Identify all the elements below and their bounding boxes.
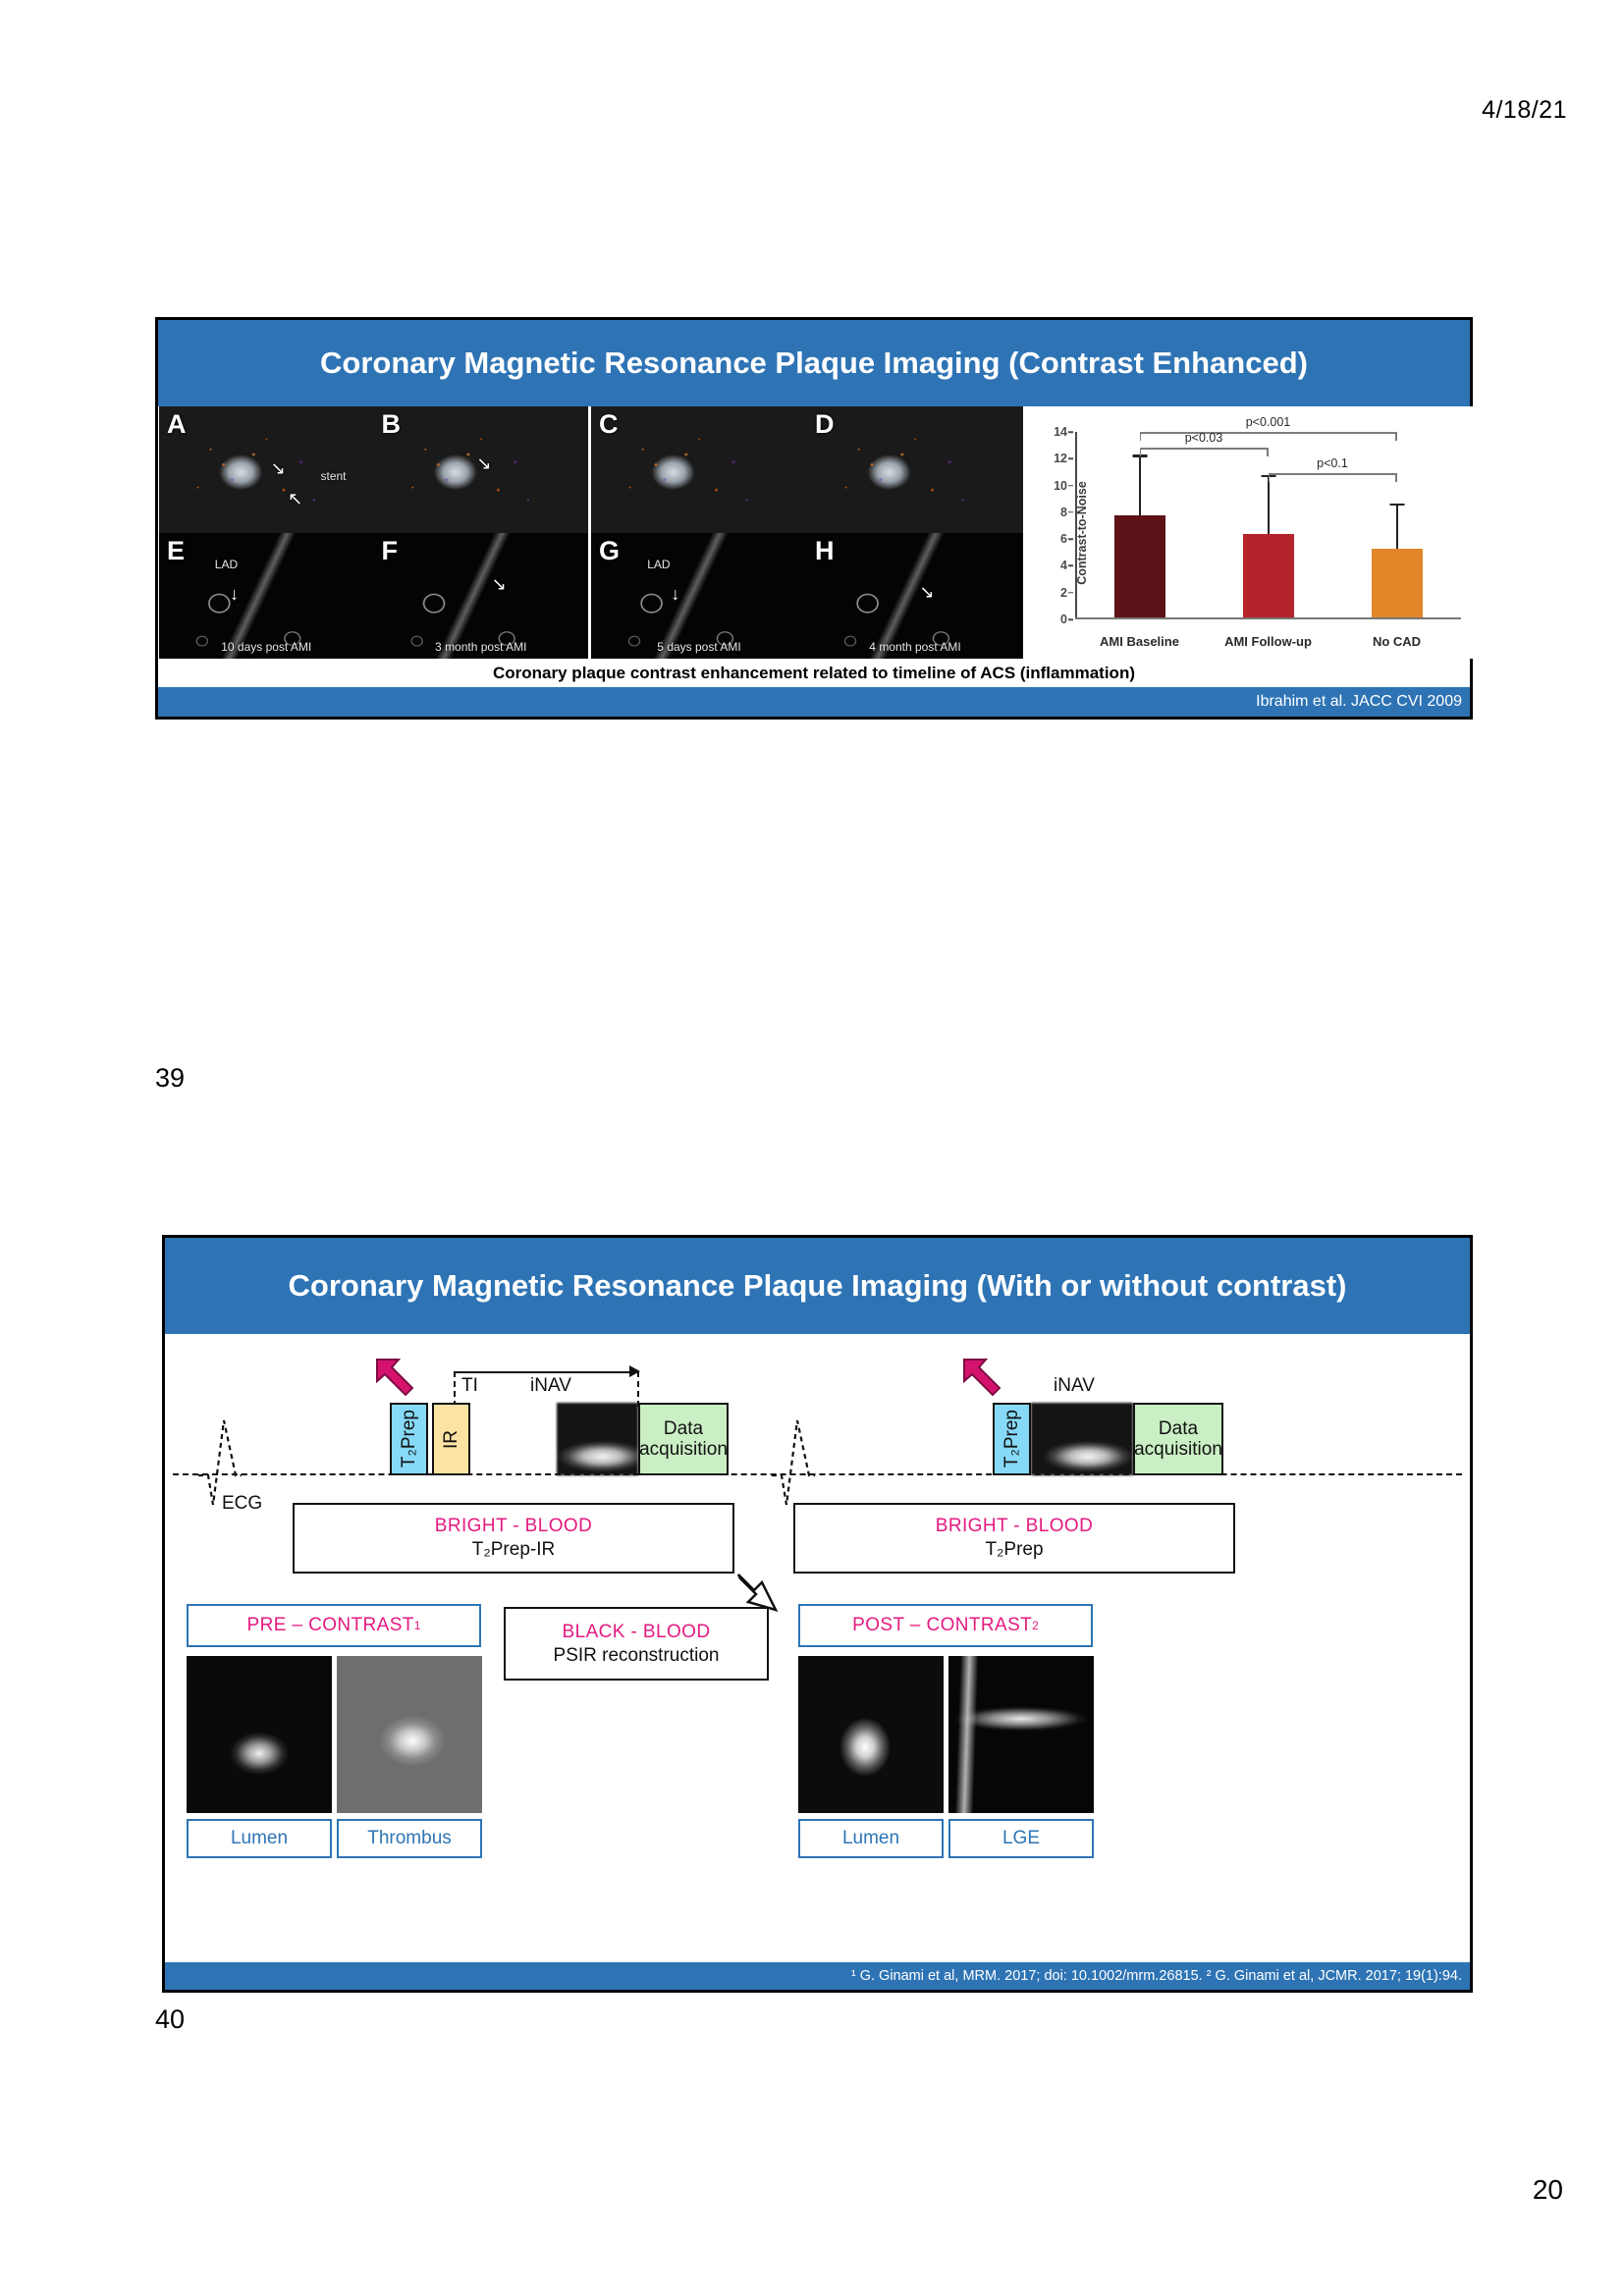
t2prep-label-right: T₂Prep — [1001, 1410, 1022, 1468]
slide-39-footer: Ibrahim et al. JACC CVI 2009 — [158, 687, 1470, 717]
ti-label: TI — [461, 1375, 478, 1397]
bracket-tick — [1140, 448, 1142, 456]
page-number: 20 — [1533, 2174, 1563, 2206]
bracket-arrowhead-icon — [629, 1365, 640, 1377]
mri-panel-d: D — [807, 406, 1023, 533]
mri-panel-c: C — [591, 406, 807, 533]
bright-blood-t2prep-box: BRIGHT - BLOOD T₂Prep — [793, 1503, 1235, 1574]
inav-label-left: iNAV — [530, 1375, 571, 1397]
chart-bar-slot — [1075, 432, 1204, 619]
chart-y-tick-label: 6 — [1060, 532, 1067, 546]
slide-40-footer: ¹ G. Ginami et al, MRM. 2017; doi: 10.10… — [165, 1962, 1470, 1990]
thumbnail-label-lumen-pre: Lumen — [187, 1819, 332, 1858]
pointer-arrow-icon: ↓ — [230, 585, 239, 603]
chart-y-tick-mark — [1068, 565, 1073, 567]
chart-p-value-label: p<0.03 — [1185, 431, 1223, 445]
mri-thumbnail-lumen-post — [798, 1656, 944, 1813]
chart-error-bar — [1268, 477, 1270, 534]
pointer-arrow-icon: ↘ — [476, 454, 491, 472]
mri-texture-lumen-post — [798, 1656, 944, 1813]
chart-significance-bracket: p<0.1 — [1269, 473, 1397, 483]
panel-letter-d: D — [815, 409, 835, 440]
chart-bar — [1243, 534, 1294, 619]
chart-bars — [1075, 432, 1461, 619]
chart-y-tick-label: 4 — [1060, 559, 1067, 572]
chart-p-value-label: p<0.1 — [1317, 456, 1348, 470]
panel-timing-e: 10 days post AMI — [221, 640, 311, 654]
panel-letter-b: B — [382, 409, 402, 440]
black-blood-psir-box: BLACK - BLOOD PSIR reconstruction — [504, 1607, 769, 1681]
mri-panel-b: B ↘ — [374, 406, 589, 533]
slide-40-title: Coronary Magnetic Resonance Plaque Imagi… — [165, 1238, 1470, 1334]
pointer-arrow-icon: ↓ — [671, 585, 679, 603]
pointer-arrow-icon: ↖ — [288, 490, 302, 507]
chart-y-tick-mark — [1068, 592, 1073, 594]
bracket-line — [1140, 448, 1269, 450]
mri-texture-c — [591, 406, 807, 533]
slide-40-body: ECG TI iNAV T₂Prep IR — [165, 1334, 1470, 1962]
bracket-tick — [1140, 432, 1142, 441]
mri-texture-lge — [948, 1656, 1094, 1813]
pointer-arrow-icon: ↘ — [919, 583, 934, 601]
highlight-arrow-icon-right — [960, 1356, 1007, 1405]
pre-contrast-sup: 1 — [414, 1619, 421, 1632]
panel-letter-h: H — [815, 536, 835, 566]
mri-thumbnail-thrombus — [337, 1656, 482, 1813]
mri-texture-lumen-pre — [187, 1656, 332, 1813]
slide-40: Coronary Magnetic Resonance Plaque Imagi… — [162, 1235, 1473, 1993]
chart-y-tick-mark — [1068, 538, 1073, 540]
chart-x-labels: AMI BaselineAMI Follow-upNo CAD — [1075, 634, 1461, 649]
chart-x-tick-label: AMI Follow-up — [1204, 634, 1332, 649]
chart-x-axis — [1075, 617, 1461, 619]
highlight-arrow-icon-left — [373, 1356, 420, 1405]
chart-plot-area: 02468101214 p<0.001p<0.03p<0.1 — [1075, 432, 1461, 619]
chart-error-cap — [1389, 504, 1404, 507]
page-date: 4/18/21 — [1482, 96, 1567, 125]
chart-x-tick-label: No CAD — [1332, 634, 1461, 649]
chart-p-value-label: p<0.001 — [1246, 415, 1291, 429]
pointer-arrow-icon: ↘ — [492, 575, 507, 593]
data-acq-line1-right: Data — [1159, 1418, 1198, 1439]
panel-timing-f: 3 month post AMI — [435, 640, 526, 654]
pre-contrast-text: PRE – CONTRAST — [247, 1615, 414, 1636]
data-acq-line1-left: Data — [664, 1418, 703, 1439]
post-contrast-sup: 2 — [1032, 1619, 1039, 1632]
chart-significance-bracket: p<0.001 — [1140, 432, 1397, 442]
chart-x-tick-label: AMI Baseline — [1075, 634, 1204, 649]
slide-39-caption: Coronary plaque contrast enhancement rel… — [158, 659, 1470, 687]
slide-39: Coronary Magnetic Resonance Plaque Imagi… — [155, 317, 1473, 720]
inav-image-right — [1031, 1403, 1133, 1475]
chart-y-tick-label: 2 — [1060, 586, 1067, 600]
chart-y-tick-label: 10 — [1054, 479, 1067, 493]
inav-image-left — [557, 1403, 638, 1475]
mri-thumbnail-lumen-pre — [187, 1656, 332, 1813]
bracket-tick — [1395, 473, 1397, 482]
mri-panel-g: G LAD ↓ 5 days post AMI — [591, 533, 807, 660]
bracket-line — [1140, 432, 1397, 434]
chart-y-tick-label: 0 — [1060, 613, 1067, 626]
bracket-line — [1269, 473, 1397, 475]
data-acquisition-block-right: Data acquisition — [1133, 1403, 1223, 1475]
panel-note-lad: LAD — [215, 558, 238, 571]
mri-half-left: A ↘ ↖ stent B ↘ E LAD ↓ 10 days post AMI — [159, 406, 591, 659]
panel-letter-f: F — [382, 536, 399, 566]
t2prep-label-left: T₂Prep — [399, 1410, 419, 1468]
black-blood-title: BLACK - BLOOD — [563, 1622, 711, 1643]
chart-y-tick-mark — [1068, 618, 1073, 620]
mri-panel-e: E LAD ↓ 10 days post AMI — [159, 533, 374, 660]
slide-39-title: Coronary Magnetic Resonance Plaque Imagi… — [158, 320, 1470, 406]
data-acq-line2-right: acquisition — [1134, 1439, 1222, 1460]
thumbnail-label-lge: LGE — [948, 1819, 1094, 1858]
t2prep-block-right: T₂Prep — [993, 1403, 1031, 1475]
chart-bar — [1372, 549, 1423, 619]
bright-blood-sub-right: T₂Prep — [985, 1539, 1043, 1561]
chart-significance-bracket: p<0.03 — [1140, 448, 1269, 457]
slide-40-number: 40 — [155, 2004, 185, 2035]
chart-y-tick-mark — [1068, 431, 1073, 433]
panel-note-stent: stent — [320, 469, 346, 483]
chart-bar — [1114, 515, 1165, 619]
panel-letter-c: C — [599, 409, 619, 440]
ir-block-left: IR — [432, 1403, 470, 1475]
bright-blood-title-left: BRIGHT - BLOOD — [435, 1516, 592, 1537]
bracket-tick — [1267, 448, 1269, 456]
mri-thumbnail-lge — [948, 1656, 1094, 1813]
chart-error-bar — [1139, 457, 1141, 515]
panel-letter-a: A — [167, 409, 187, 440]
mri-texture-d — [807, 406, 1023, 533]
slide-39-body: A ↘ ↖ stent B ↘ E LAD ↓ 10 days post AMI — [158, 406, 1470, 687]
bright-blood-t2prep-ir-box: BRIGHT - BLOOD T₂Prep-IR — [293, 1503, 734, 1574]
chart-y-tick-label: 12 — [1054, 452, 1067, 465]
ir-label: IR — [441, 1430, 461, 1449]
data-acquisition-block-left: Data acquisition — [638, 1403, 729, 1475]
thumbnail-label-thrombus: Thrombus — [337, 1819, 482, 1858]
bracket-tick — [1395, 432, 1397, 441]
pulse-sequence-diagram: ECG TI iNAV T₂Prep IR — [165, 1334, 1470, 1545]
mri-image-strip: A ↘ ↖ stent B ↘ E LAD ↓ 10 days post AMI — [159, 406, 1023, 659]
black-blood-sub: PSIR reconstruction — [554, 1645, 720, 1667]
panel-note-lad: LAD — [647, 558, 670, 571]
chart-y-tick-mark — [1068, 458, 1073, 460]
post-contrast-label: POST – CONTRAST2 — [798, 1604, 1093, 1647]
data-acq-line2-left: acquisition — [639, 1439, 728, 1460]
chart-y-tick-mark — [1068, 485, 1073, 487]
panel-letter-g: G — [599, 536, 620, 566]
chart-y-tick-mark — [1068, 511, 1073, 513]
mri-panel-f: F ↘ 3 month post AMI — [374, 533, 589, 660]
thumbnail-label-lumen-post: Lumen — [798, 1819, 944, 1858]
inav-label-right: iNAV — [1054, 1375, 1095, 1397]
chart-y-tick-label: 8 — [1060, 506, 1067, 519]
panel-timing-g: 5 days post AMI — [657, 640, 740, 654]
pointer-arrow-icon: ↘ — [271, 459, 286, 477]
mri-half-right: C D G LAD ↓ 5 days post AMI H ↘ 4 — [591, 406, 1023, 659]
contrast-to-noise-bar-chart: Contrast-to-Noise 02468101214 p<0.001p<0… — [1026, 406, 1473, 659]
chart-bar-slot — [1332, 432, 1461, 619]
slide-39-number: 39 — [155, 1063, 185, 1094]
panel-timing-h: 4 month post AMI — [869, 640, 960, 654]
chart-y-ticks: 02468101214 — [1042, 432, 1073, 619]
bright-blood-title-right: BRIGHT - BLOOD — [936, 1516, 1093, 1537]
mri-panel-a: A ↘ ↖ stent — [159, 406, 374, 533]
panel-letter-e: E — [167, 536, 185, 566]
mri-panel-h: H ↘ 4 month post AMI — [807, 533, 1023, 660]
t2prep-block-left: T₂Prep — [390, 1403, 428, 1475]
chart-error-bar — [1396, 506, 1398, 549]
ecg-label-left: ECG — [222, 1493, 262, 1515]
chart-bar-slot — [1204, 432, 1332, 619]
pre-contrast-label: PRE – CONTRAST1 — [187, 1604, 481, 1647]
bracket-tick — [1269, 473, 1271, 482]
post-contrast-text: POST – CONTRAST — [852, 1615, 1032, 1636]
bright-blood-sub-left: T₂Prep-IR — [472, 1539, 555, 1561]
mri-texture-thrombus — [337, 1656, 482, 1813]
chart-y-tick-label: 14 — [1054, 425, 1067, 439]
